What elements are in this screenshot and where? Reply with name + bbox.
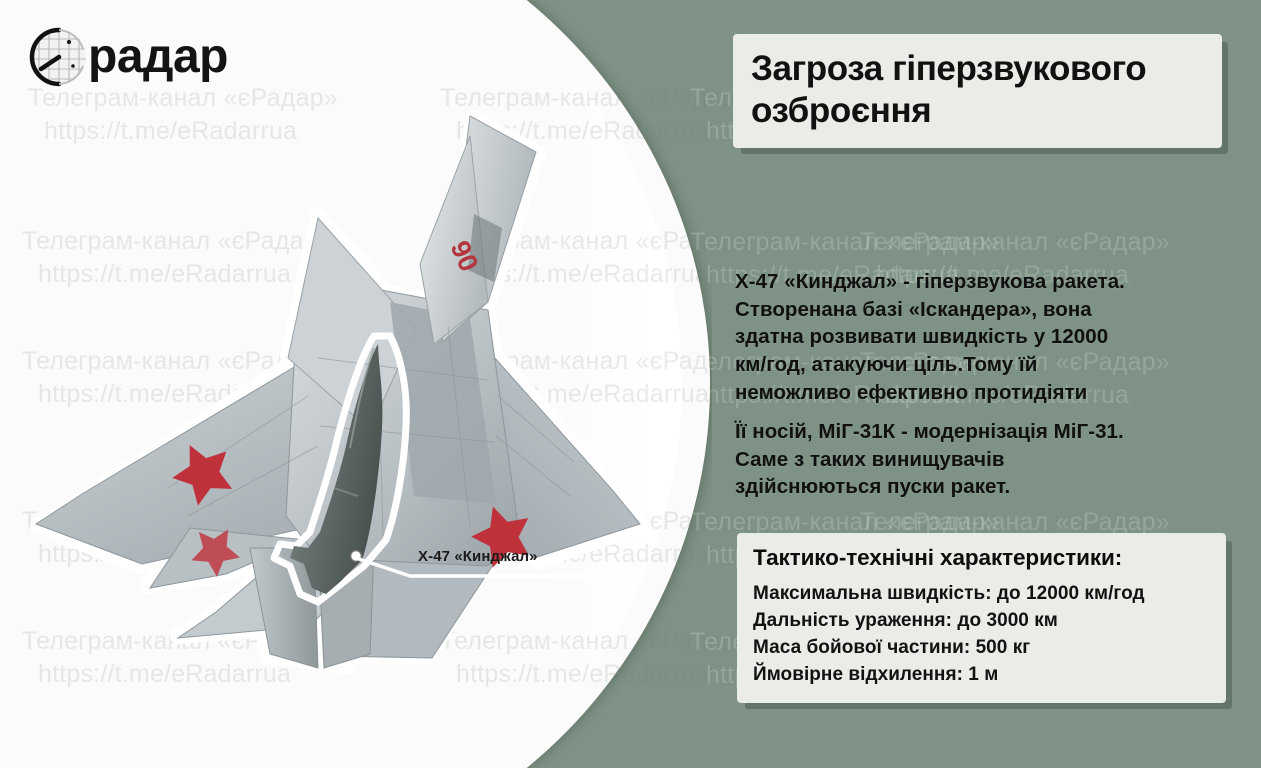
page-title: Загроза гіперзвукового озброєння: [751, 48, 1204, 132]
spec-row-cep: Ймовірне відхилення: 1 м: [753, 662, 1210, 689]
title-card: Загроза гіперзвукового озброєння: [733, 34, 1222, 148]
radar-scope-icon: [26, 24, 92, 90]
body-paragraph-2: Її носій, МіГ-31К - модернізація МіГ-31.…: [735, 418, 1231, 501]
content-column: Загроза гіперзвукового озброєння X-47 «К…: [733, 0, 1233, 768]
infographic-canvas: Телеграм-канал «єРадар» https://t.me/eRa…: [0, 0, 1261, 768]
brand-logo[interactable]: радар: [26, 24, 228, 90]
left-wing: [36, 354, 324, 564]
specifications-card: Тактико-технічні характеристики: Максима…: [737, 533, 1226, 703]
brand-name: радар: [88, 33, 228, 81]
body-paragraph-1: X-47 «Кинджал» - гіперзвукова ракета. Ст…: [735, 268, 1231, 406]
spec-row-max-speed: Максимальна швидкість: до 12000 км/год: [753, 581, 1210, 608]
spec-row-range: Дальність ураження: до 3000 км: [753, 608, 1210, 635]
aircraft-illustration: 90 X-47 «Кинджал»: [18, 96, 658, 696]
spec-row-warhead-mass: Маса бойової частини: 500 кг: [753, 635, 1210, 662]
missile-callout: X-47 «Кинджал»: [348, 548, 608, 588]
callout-label: X-47 «Кинджал»: [418, 548, 538, 565]
specifications-title: Тактико-технічні характеристики:: [753, 545, 1210, 571]
